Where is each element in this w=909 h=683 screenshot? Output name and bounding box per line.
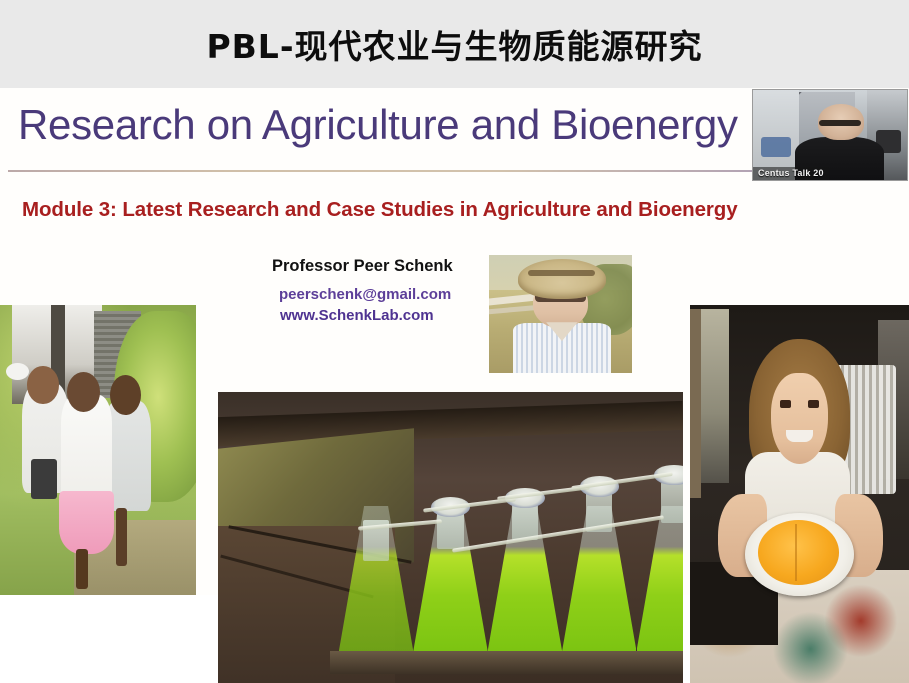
photo-children-outdoors: [0, 305, 196, 595]
child-leg-center: [76, 549, 88, 590]
webcam-participant-glasses: [819, 120, 861, 126]
woman-eye-left: [780, 400, 791, 408]
presenter-portrait-photo: [489, 255, 632, 373]
presenter-email[interactable]: peerschenk@gmail.com: [279, 286, 451, 303]
portrait-straw-hat: [518, 259, 607, 299]
child-head-center: [67, 372, 100, 413]
woman-eye-right: [808, 400, 819, 408]
mango-slices: [758, 520, 839, 584]
photo-woman-with-mango: [690, 305, 909, 683]
woman-smile: [786, 430, 812, 442]
mango-slice-divider: [795, 524, 797, 581]
presentation-slide: PBL-现代农业与生物质能源研究 Research on Agriculture…: [0, 0, 909, 595]
portrait-hat-band: [528, 270, 595, 276]
presenter-name: Professor Peer Schenk: [272, 257, 453, 276]
slide-main-title: Research on Agriculture and Bioenergy: [18, 101, 738, 149]
woman-face: [771, 373, 828, 464]
webcam-participant-label: Centus Talk 20: [753, 167, 829, 180]
children-photo-bag: [31, 459, 56, 500]
algae-flask-neck: [661, 482, 683, 523]
presenter-website[interactable]: www.SchenkLab.com: [280, 307, 434, 324]
child-head-right: [110, 375, 141, 416]
child-leg-right: [116, 508, 128, 566]
header-title: PBL-现代农业与生物质能源研究: [206, 20, 702, 68]
photo-algae-bioreactor: [218, 392, 683, 683]
mango-photo-window-frame: [690, 309, 701, 498]
slide-module-subtitle: Module 3: Latest Research and Case Studi…: [22, 198, 738, 222]
webcam-blue-object: [761, 137, 792, 157]
child-head-left: [27, 366, 58, 404]
algae-photo-shelf: [330, 651, 683, 674]
child-pink-skirt: [59, 491, 114, 555]
webcam-video-overlay[interactable]: Centus Talk 20: [752, 89, 908, 181]
slide-header-band: PBL-现代农业与生物质能源研究: [0, 0, 909, 88]
